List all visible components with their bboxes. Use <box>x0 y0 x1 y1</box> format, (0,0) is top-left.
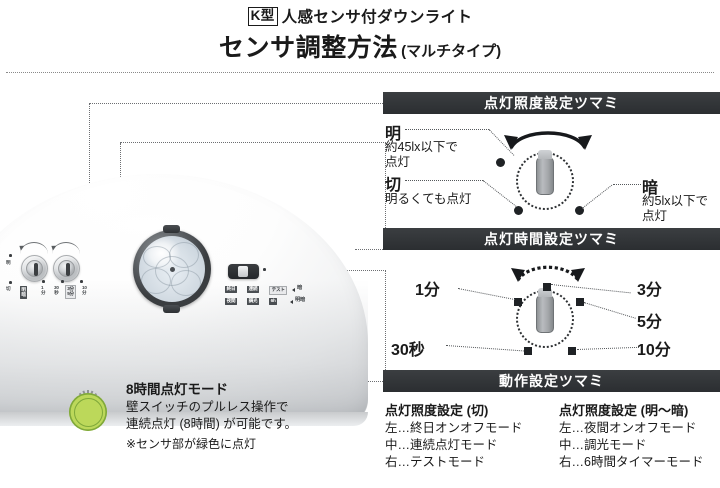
title-block: K型人感センサ付ダウンライト センサ調整方法(マルチタイプ) <box>0 0 720 72</box>
model-type-badge: K型 <box>248 7 278 26</box>
photo-label-time-30s: 30秒 <box>54 286 59 296</box>
eight-hour-mode-note: ※センサ部が緑色に点灯 <box>126 435 297 452</box>
sensor-tab-bottom <box>163 305 180 313</box>
time-marker-5m <box>576 298 584 306</box>
illuminance-leader-off-d <box>483 180 517 207</box>
operation-column-off-heading: 点灯照度設定 (切) <box>385 402 523 419</box>
panel-time-setting: 点灯時間設定ツマミ 1分 3分 5分 <box>383 228 720 360</box>
illuminance-setting-knob[interactable] <box>21 255 48 282</box>
label-off-desc: 明るくても点灯 <box>385 192 472 207</box>
photo-label-dark-side: 暗 <box>297 286 302 291</box>
panel-illuminance-setting: 点灯照度設定ツマミ 明 <box>383 92 720 224</box>
illuminance-leader-dark-d <box>582 185 613 209</box>
photo-chip-time-range: 3分5分 <box>65 285 76 299</box>
time-leader-10m <box>577 347 639 350</box>
knob-slot-illuminance <box>34 263 38 276</box>
operation-item-bd-left: 左…夜間オンオフモード <box>559 421 697 435</box>
knob-mark-dot-time-left <box>42 280 45 283</box>
page-title: センサ調整方法 <box>219 34 398 62</box>
label-dark-desc-1: 約5lx以下で <box>642 194 708 208</box>
time-marker-10m <box>568 347 576 355</box>
diagram-root: K型人感センサ付ダウンライト センサ調整方法(マルチタイプ) <box>0 0 720 488</box>
time-rotation-arrow <box>509 258 587 284</box>
panel-time-header: 点灯時間設定ツマミ <box>383 228 720 250</box>
photo-chip-mode-test: テスト <box>269 286 287 295</box>
operation-column-off: 点灯照度設定 (切) 左…終日オンオフモード 中…連続点灯モード 右…テストモー… <box>385 402 523 471</box>
operation-item-off-left: 左…終日オンオフモード <box>385 421 523 435</box>
label-bright-desc: 約45lx以下で 点灯 <box>385 140 458 170</box>
title-line-1-text: 人感センサ付ダウンライト <box>282 9 473 26</box>
label-time-1m: 1分 <box>415 276 440 300</box>
green-sensor-glow-icon <box>60 384 116 440</box>
time-dial-pointer <box>536 295 554 333</box>
photo-label-bright-dark-side: 明暗 <box>295 298 305 303</box>
time-leader-5m <box>584 302 636 319</box>
sensor-tab-top <box>163 225 180 233</box>
illuminance-leader-bright-h <box>405 129 489 130</box>
leader-line-time-horizontal-top <box>120 142 386 143</box>
illuminance-leader-off-h <box>405 180 483 181</box>
knob-inner-illuminance <box>26 260 43 277</box>
time-leader-3m <box>551 284 631 293</box>
downlight-sensor-unit-photo: 明 切 明暗 30秒 3分5分 10分 1分 終日 連続 テスト 暗 夜間 調光… <box>0 150 368 350</box>
knob-inner-time <box>58 260 75 277</box>
eight-hour-mode-heading: 8時間点灯モード <box>126 378 297 398</box>
time-marker-30s <box>524 347 532 355</box>
operation-mode-slide-switch[interactable] <box>228 264 259 279</box>
label-dark-desc: 約5lx以下で 点灯 <box>642 194 708 224</box>
page-subtitle: (マルチタイプ) <box>401 43 501 60</box>
panel-illuminance-header: 点灯照度設定ツマミ <box>383 92 720 114</box>
eight-hour-mode-line-2: 連続点灯 (8時間) が可能です。 <box>126 416 297 433</box>
operation-item-off-right: 右…テストモード <box>385 455 485 469</box>
slide-switch-knob <box>238 266 248 278</box>
panel-illuminance-body: 明 約45lx以下で 点灯 切 明るくても点灯 暗 約5lx以下で 点灯 <box>383 114 720 224</box>
knob-mark-dot-time-right <box>80 280 83 283</box>
label-time-10m: 10分 <box>637 336 671 360</box>
operation-item-bd-mid: 中…調光モード <box>559 438 647 452</box>
illuminance-leader-dark-h <box>613 184 641 185</box>
photo-label-bright: 明 <box>6 261 10 266</box>
lighting-time-setting-knob[interactable] <box>53 255 80 282</box>
label-bright-desc-2: 点灯 <box>385 155 410 169</box>
label-time-30s: 30秒 <box>391 336 425 360</box>
knob-mark-dot-bright <box>9 254 12 257</box>
photo-arrow-dark <box>292 288 295 292</box>
operation-column-bright-dark: 点灯照度設定 (明〜暗) 左…夜間オンオフモード 中…調光モード 右…6時間タイ… <box>559 402 703 471</box>
panel-operation-body: 点灯照度設定 (切) 左…終日オンオフモード 中…連続点灯モード 右…テストモー… <box>383 392 720 488</box>
photo-chip-mode-6h: 6h <box>269 298 277 305</box>
label-time-3m: 3分 <box>637 276 662 300</box>
photo-chip-bright-dark-range: 明暗 <box>20 286 27 299</box>
eight-hour-mode-text: 8時間点灯モード 壁スイッチのプルレス操作で 連続点灯 (8時間) が可能です。… <box>126 378 297 452</box>
switch-leader-dot <box>263 268 266 271</box>
header-divider <box>6 72 714 73</box>
knob-slot-time <box>66 263 70 276</box>
panel-operation-setting: 動作設定ツマミ 点灯照度設定 (切) 左…終日オンオフモード 中…連続点灯モード… <box>383 370 720 488</box>
photo-arrow-bright-dark <box>290 300 293 304</box>
time-leader-30s <box>446 345 524 351</box>
eight-hour-mode-line-1: 壁スイッチのプルレス操作で <box>126 399 297 416</box>
label-time-5m: 5分 <box>637 308 662 332</box>
time-marker-1m <box>514 298 522 306</box>
sun-core-ring <box>74 398 103 427</box>
knob-mark-dot-time-mid <box>61 280 64 283</box>
operation-item-off-mid: 中…連続点灯モード <box>385 438 498 452</box>
illuminance-marker-bright <box>496 158 505 167</box>
panel-time-body: 1分 3分 5分 30秒 10分 <box>383 250 720 360</box>
label-bright-desc-1: 約45lx以下で <box>385 140 458 154</box>
photo-chip-mode-dimming: 調光 <box>247 298 259 305</box>
sensor-lens-glass <box>139 236 205 302</box>
title-line-1: K型人感センサ付ダウンライト <box>0 5 720 27</box>
leader-line-illuminance-horizontal <box>89 103 385 104</box>
illuminance-rotation-arrow <box>501 122 595 152</box>
panel-operation-header: 動作設定ツマミ <box>383 370 720 392</box>
lens-center-dot <box>170 267 175 272</box>
photo-label-time-10m: 10分 <box>82 286 87 296</box>
photo-chip-mode-continuous: 連続 <box>247 286 259 293</box>
title-line-2: センサ調整方法(マルチタイプ) <box>0 28 720 64</box>
motion-sensor-dome <box>133 230 211 308</box>
operation-item-bd-right: 右…6時間タイマーモード <box>559 455 703 469</box>
time-leader-1m <box>458 288 515 300</box>
time-marker-3m-top <box>543 283 551 291</box>
photo-label-off: 切 <box>6 287 10 292</box>
photo-label-time-1m: 1分 <box>41 286 45 296</box>
illuminance-marker-off <box>514 206 523 215</box>
illuminance-dial-pointer <box>536 157 554 195</box>
photo-chip-mode-night: 夜間 <box>225 298 237 305</box>
label-dark-desc-2: 点灯 <box>642 209 667 223</box>
photo-chip-mode-allday: 終日 <box>225 286 237 293</box>
operation-column-bright-dark-heading: 点灯照度設定 (明〜暗) <box>559 402 703 419</box>
knob-mark-dot-off <box>9 281 12 284</box>
